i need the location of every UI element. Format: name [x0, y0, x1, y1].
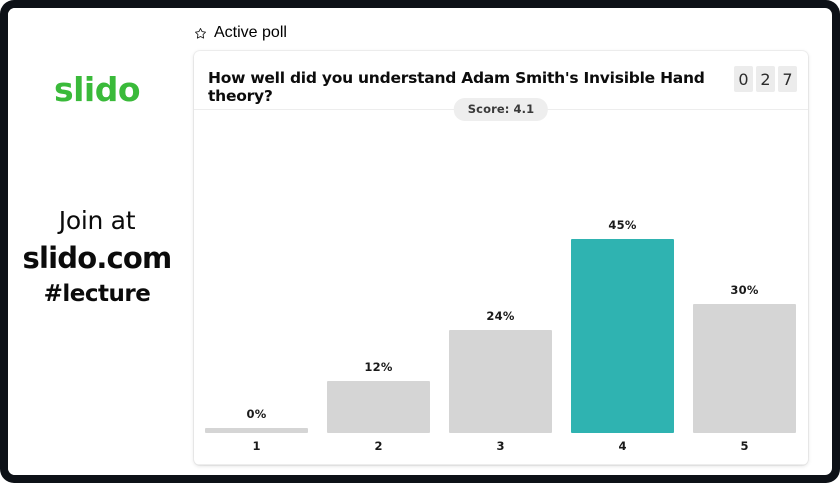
vote-counter-digit: 0: [734, 66, 753, 92]
bar-value-label: 24%: [449, 309, 552, 323]
bar: [449, 330, 552, 433]
x-axis-label: 2: [327, 439, 430, 453]
score-badge: Score: 4.1: [454, 98, 548, 121]
x-axis-label: 3: [449, 439, 552, 453]
screen-frame: slido Join at slido.com #lecture Active …: [0, 0, 840, 483]
presentation-stage: slido Join at slido.com #lecture Active …: [8, 8, 832, 475]
bar-value-label: 30%: [693, 283, 796, 297]
bar-highlighted: [571, 239, 674, 433]
join-url: slido.com: [8, 238, 186, 278]
slido-logo: slido: [8, 70, 186, 109]
bar-slot: 45%: [571, 133, 674, 433]
active-poll-label: Active poll: [214, 24, 287, 42]
chart-baseline: [205, 433, 797, 434]
star-outline-icon: [194, 27, 207, 40]
join-at-label: Join at: [8, 204, 186, 238]
bar-slot: 12%: [327, 133, 430, 433]
join-instructions: Join at slido.com #lecture: [8, 204, 186, 311]
bar-slot: 0%: [205, 133, 308, 433]
bar-value-label: 12%: [327, 360, 430, 374]
poll-results-chart: 0%12%24%45%30% 12345: [205, 133, 797, 465]
join-event-code: #lecture: [8, 278, 186, 311]
x-axis-label: 4: [571, 439, 674, 453]
bar-value-label: 45%: [571, 218, 674, 232]
bar: [693, 304, 796, 433]
chart-plot-area: 0%12%24%45%30%: [205, 133, 797, 433]
bar-value-label: 0%: [205, 407, 308, 421]
vote-counter: 0 2 7: [734, 66, 797, 92]
bar-slot: 30%: [693, 133, 796, 433]
x-axis-label: 5: [693, 439, 796, 453]
vote-counter-digit: 7: [778, 66, 797, 92]
bar-slot: 24%: [449, 133, 552, 433]
active-poll-status: Active poll: [194, 24, 287, 42]
poll-card: How well did you understand Adam Smith's…: [194, 51, 808, 465]
card-footer-divider: [194, 464, 808, 465]
branding-sidebar: slido Join at slido.com #lecture: [8, 8, 186, 475]
vote-counter-digit: 2: [756, 66, 775, 92]
bar: [327, 381, 430, 433]
x-axis-label: 1: [205, 439, 308, 453]
